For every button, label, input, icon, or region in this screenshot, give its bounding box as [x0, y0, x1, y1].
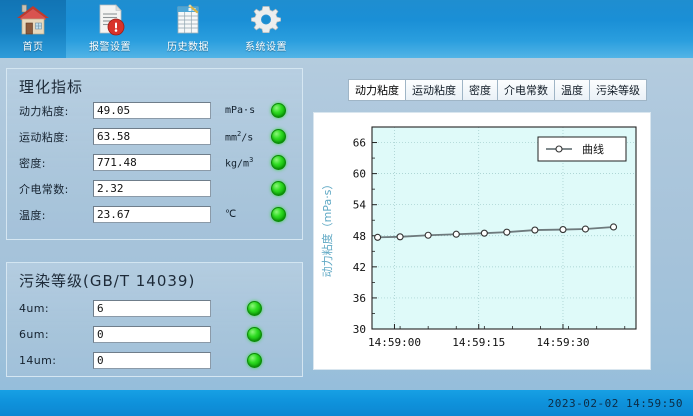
tab-pollution-level[interactable]: 污染等级	[589, 79, 647, 101]
label-particles-14um: 14um:	[19, 354, 93, 367]
input-dielectric-constant[interactable]	[93, 180, 211, 197]
input-kinematic-viscosity[interactable]	[93, 128, 211, 145]
unit-density: kg/m3	[225, 156, 273, 169]
tab-kinematic-viscosity[interactable]: 运动粘度	[405, 79, 462, 101]
label-dielectric-constant: 介电常数:	[19, 181, 93, 197]
alarm-document-icon	[92, 3, 128, 37]
status-timestamp: 2023-02-02 14:59:50	[548, 397, 683, 410]
tab-dielectric-constant[interactable]: 介电常数	[497, 79, 554, 101]
tab-dynamic-viscosity[interactable]: 动力粘度	[348, 79, 405, 101]
toolbar-label-system-settings: 系统设置	[245, 38, 287, 53]
input-dynamic-viscosity[interactable]	[93, 102, 211, 119]
app-window: 首页 报警设置	[0, 0, 693, 416]
svg-text:54: 54	[353, 199, 367, 212]
status-led-temperature	[271, 207, 286, 222]
main-toolbar: 首页 报警设置	[0, 0, 693, 58]
chart-tab-bar: 动力粘度 运动粘度 密度 介电常数 温度 污染等级	[348, 79, 647, 101]
svg-text:14:59:00: 14:59:00	[368, 336, 421, 349]
toolbar-item-home[interactable]: 首页	[0, 0, 66, 58]
row-particles-6um: 6um:	[19, 325, 211, 344]
input-particles-4um[interactable]	[93, 300, 211, 317]
status-led-particles-6um	[247, 327, 262, 342]
status-led-kinematic-viscosity	[271, 129, 286, 144]
svg-text:30: 30	[353, 323, 366, 336]
label-kinematic-viscosity: 运动粘度:	[19, 129, 93, 145]
toolbar-label-history-data: 历史数据	[167, 38, 209, 53]
toolbar-label-alarm-settings: 报警设置	[89, 38, 131, 53]
status-led-dynamic-viscosity	[271, 103, 286, 118]
input-particles-6um[interactable]	[93, 326, 211, 343]
svg-text:48: 48	[353, 230, 366, 243]
svg-text:36: 36	[353, 292, 366, 305]
status-led-particles-14um	[247, 353, 262, 368]
svg-text:42: 42	[353, 261, 366, 274]
label-particles-6um: 6um:	[19, 328, 93, 341]
home-icon	[15, 3, 51, 37]
svg-text:60: 60	[353, 168, 366, 181]
label-particles-4um: 4um:	[19, 302, 93, 315]
pollution-level-panel: 污染等级(GB/T 14039) 4um: 6um: 14um:	[6, 262, 303, 377]
svg-text:14:59:15: 14:59:15	[452, 336, 505, 349]
unit-kinematic-viscosity: mm2/s	[225, 130, 273, 143]
physical-panel-title: 理化指标	[19, 76, 83, 97]
input-temperature[interactable]	[93, 206, 211, 223]
tab-temperature[interactable]: 温度	[554, 79, 589, 101]
toolbar-item-alarm-settings[interactable]: 报警设置	[72, 0, 148, 58]
unit-temperature: ℃	[225, 209, 273, 220]
trend-chart-panel[interactable]: 3036424854606614:59:0014:59:1514:59:30动力…	[313, 112, 651, 370]
row-dielectric-constant: 介电常数:	[19, 179, 273, 198]
label-density: 密度:	[19, 155, 93, 171]
status-led-density	[271, 155, 286, 170]
tab-density[interactable]: 密度	[462, 79, 497, 101]
svg-text:66: 66	[353, 137, 366, 150]
trend-chart-svg: 3036424854606614:59:0014:59:1514:59:30动力…	[314, 113, 650, 369]
physical-indicators-panel: 理化指标 动力粘度: mPa·s 运动粘度: mm2/s 密度: kg/m3 介…	[6, 68, 303, 240]
row-kinematic-viscosity: 运动粘度: mm2/s	[19, 127, 273, 146]
status-led-dielectric-constant	[271, 181, 286, 196]
toolbar-label-home: 首页	[23, 38, 44, 53]
label-dynamic-viscosity: 动力粘度:	[19, 103, 93, 119]
row-particles-4um: 4um:	[19, 299, 211, 318]
label-temperature: 温度:	[19, 207, 93, 223]
svg-text:动力粘度（mPa·s）: 动力粘度（mPa·s）	[320, 179, 334, 278]
toolbar-item-history-data[interactable]: 历史数据	[150, 0, 226, 58]
svg-text:14:59:30: 14:59:30	[536, 336, 589, 349]
history-table-icon	[170, 3, 206, 37]
pollution-panel-title: 污染等级(GB/T 14039)	[19, 270, 195, 291]
input-particles-14um[interactable]	[93, 352, 211, 369]
row-particles-14um: 14um:	[19, 351, 211, 370]
unit-dynamic-viscosity: mPa·s	[225, 105, 273, 116]
toolbar-item-system-settings[interactable]: 系统设置	[228, 0, 304, 58]
status-bar: 2023-02-02 14:59:50	[0, 390, 693, 416]
row-density: 密度: kg/m3	[19, 153, 273, 172]
svg-text:曲线: 曲线	[582, 142, 604, 156]
row-dynamic-viscosity: 动力粘度: mPa·s	[19, 101, 273, 120]
status-led-particles-4um	[247, 301, 262, 316]
input-density[interactable]	[93, 154, 211, 171]
gear-icon	[248, 3, 284, 37]
row-temperature: 温度: ℃	[19, 205, 273, 224]
